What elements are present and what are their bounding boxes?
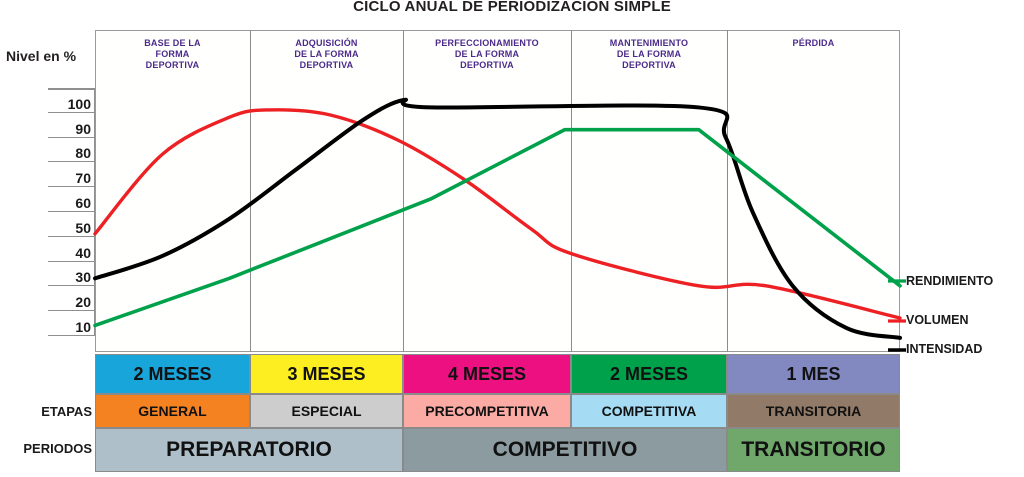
chart-root: CICLO ANUAL DE PERIODIZACIÓN SIMPLE Nive…	[0, 0, 1024, 477]
page-title: CICLO ANUAL DE PERIODIZACIÓN SIMPLE	[0, 0, 1024, 15]
row-label-etapas: ETAPAS	[0, 404, 92, 419]
y-tick-90: 90	[48, 113, 95, 138]
meses-cell-5[interactable]: 1 MES	[727, 354, 900, 394]
y-tick-10: 10	[48, 311, 95, 336]
meses-cell-3[interactable]: 4 MESES	[403, 354, 571, 394]
periodo-cell-preparatorio[interactable]: PREPARATORIO	[95, 428, 403, 472]
phase-label-perfeccionamiento: PERFECCIONAMIENTODE LA FORMADEPORTIVA	[403, 38, 571, 71]
y-tick-60: 60	[48, 187, 95, 212]
periodo-cell-competitivo[interactable]: COMPETITIVO	[403, 428, 727, 472]
y-tick-100: 100	[48, 88, 95, 113]
phase-divider-2	[403, 30, 404, 352]
y-tick-40: 40	[48, 237, 95, 262]
y-axis-label: Nivel en %	[6, 48, 76, 64]
etapa-cell-transitoria[interactable]: TRANSITORIA	[727, 394, 900, 428]
legend-label-volumen: VOLUMEN	[906, 313, 969, 327]
phase-label-base: BASE DE LAFORMADEPORTIVA	[95, 38, 250, 71]
y-tick-50: 50	[48, 212, 95, 237]
phase-label-perdida: PÉRDIDA	[727, 38, 900, 49]
meses-cell-2[interactable]: 3 MESES	[250, 354, 403, 394]
phase-label-adquisicion: ADQUISICIÓNDE LA FORMADEPORTIVA	[250, 38, 403, 71]
periodo-cell-transitorio[interactable]: TRANSITORIO	[727, 428, 900, 472]
row-label-periodos: PERIODOS	[0, 441, 92, 456]
legend-label-rendimiento: RENDIMIENTO	[906, 274, 993, 288]
plot-area	[95, 30, 900, 352]
meses-cell-1[interactable]: 2 MESES	[95, 354, 250, 394]
y-tick-30: 30	[48, 262, 95, 287]
phase-divider-3	[571, 30, 572, 352]
meses-cell-4[interactable]: 2 MESES	[571, 354, 727, 394]
etapa-cell-especial[interactable]: ESPECIAL	[250, 394, 403, 428]
y-tick-20: 20	[48, 286, 95, 311]
y-tick-70: 70	[48, 162, 95, 187]
etapa-cell-general[interactable]: GENERAL	[95, 394, 250, 428]
y-tick-80: 80	[48, 138, 95, 163]
phase-label-mantenimiento: MANTENIMIENTODE LA FORMADEPORTIVA	[571, 38, 727, 71]
etapa-cell-competitiva[interactable]: COMPETITIVA	[571, 394, 727, 428]
etapa-cell-precompetitiva[interactable]: PRECOMPETITIVA	[403, 394, 571, 428]
phase-divider-1	[250, 30, 251, 352]
phase-divider-4	[727, 30, 728, 352]
legend-label-intensidad: INTENSIDAD	[906, 342, 982, 356]
